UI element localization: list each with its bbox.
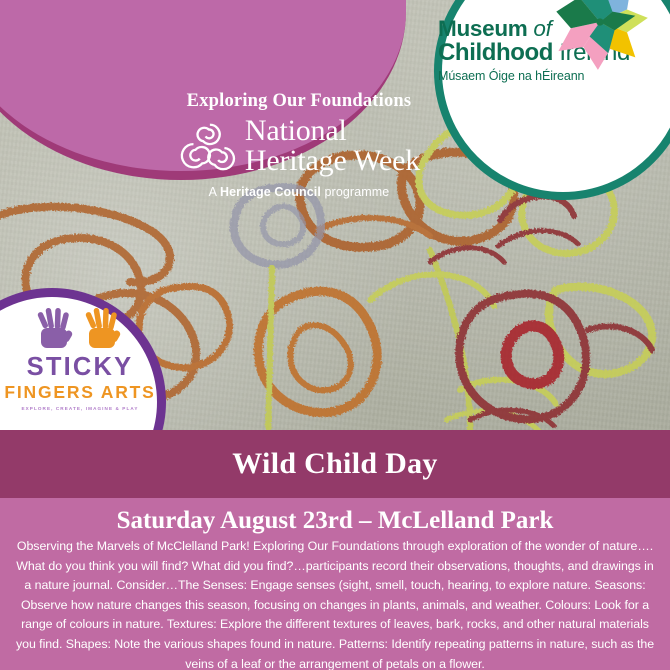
pinwheel-icon bbox=[548, 0, 652, 79]
event-date-location: Saturday August 23rd – McLelland Park bbox=[12, 507, 658, 535]
heritage-council-tagline: A Heritage Council programme bbox=[104, 185, 494, 199]
poster: Exploring Our Foundations National Herit… bbox=[0, 0, 670, 670]
purple-handprint-icon bbox=[37, 308, 74, 348]
sticky-fingers-tagline: EXPLORE, CREATE, IMAGINE & PLAY bbox=[0, 406, 160, 411]
heritage-week-name-line-2: Heritage Week bbox=[245, 146, 420, 177]
sticky-fingers-arts-content: STICKY FINGERS ARTS EXPLORE, CREATE, IMA… bbox=[0, 306, 160, 426]
triple-spiral-triskele-icon bbox=[178, 118, 236, 181]
sticky-fingers-word-2: FINGERS ARTS bbox=[0, 384, 160, 402]
heritage-week-name-line-1: National bbox=[245, 116, 420, 147]
sticky-fingers-word-1: STICKY bbox=[0, 355, 160, 381]
event-description: Observing the Marvels of McClelland Park… bbox=[12, 537, 658, 670]
event-title: Wild Child Day bbox=[232, 447, 437, 481]
museum-of-childhood-content: Museum of Childhood Ireland Músaem Óige … bbox=[428, 18, 670, 128]
event-details-band: Saturday August 23rd – McLelland Park Ob… bbox=[0, 498, 670, 670]
orange-handprint-icon bbox=[85, 308, 122, 348]
event-title-band: Wild Child Day bbox=[0, 430, 670, 498]
